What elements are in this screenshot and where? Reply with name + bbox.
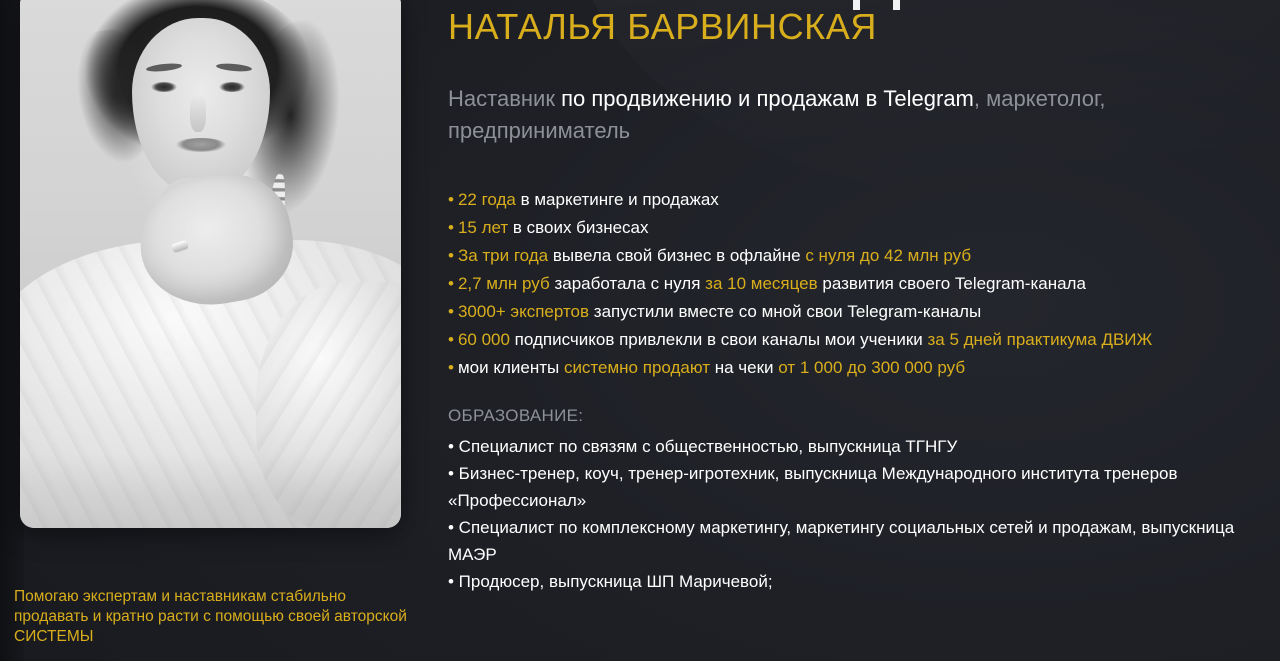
- bullet-highlight: 2,7 млн руб: [458, 274, 550, 293]
- subtitle: Наставник по продвижению и продажам в Te…: [448, 83, 1254, 147]
- list-item: •22 года в маркетинге и продажах: [448, 186, 1248, 214]
- bullet-highlight-2: за 5 дней практикума ДВИЖ: [927, 330, 1152, 349]
- bullet-highlight: За три года: [458, 246, 548, 265]
- education-item: • Бизнес-тренер, коуч, тренер-игротехник…: [448, 460, 1248, 514]
- bullet-highlight-2: с нуля до 42 млн руб: [805, 246, 971, 265]
- tagline: Помогаю экспертам и наставникам стабильн…: [14, 587, 414, 647]
- bullet-dot-icon: •: [448, 274, 454, 293]
- subtitle-part-1: Наставник: [448, 86, 561, 111]
- bullet-text: заработала с нуля: [550, 274, 705, 293]
- bullet-dot-icon: •: [448, 190, 454, 209]
- portrait-photo-image: [20, 0, 401, 528]
- achievements-list: •22 года в маркетинге и продажах •15 лет…: [448, 186, 1248, 382]
- list-item: •3000+ экспертов запустили вместе со мно…: [448, 298, 1248, 326]
- bullet-highlight-2: за 10 месяцев: [705, 274, 817, 293]
- list-item: •За три года вывела свой бизнес в офлайн…: [448, 242, 1248, 270]
- bullet-highlight: 15 лет: [458, 218, 508, 237]
- bullet-dot-icon: •: [448, 358, 454, 377]
- list-item: •60 000 подписчиков привлекли в свои кан…: [448, 326, 1248, 354]
- bullet-highlight: 22 года: [458, 190, 516, 209]
- bullet-text-2: развития своего Telegram-канала: [818, 274, 1086, 293]
- content-column: НАТАЛЬЯ БАРВИНСКАЯ Наставник по продвиже…: [448, 0, 1258, 661]
- photo-fade-overlay: [20, 0, 401, 528]
- bullet-text: в маркетинге и продажах: [516, 190, 719, 209]
- bullet-dot-icon: •: [448, 330, 454, 349]
- education-item: • Продюсер, выпускница ШП Маричевой;: [448, 568, 1248, 595]
- bullet-highlight: 3000+ экспертов: [458, 302, 589, 321]
- bullet-highlight: системно продают: [564, 358, 710, 377]
- page-title: НАТАЛЬЯ БАРВИНСКАЯ: [448, 6, 877, 48]
- list-item: •15 лет в своих бизнесах: [448, 214, 1248, 242]
- bullet-highlight-2: от 1 000 до 300 000 руб: [778, 358, 965, 377]
- presentation-slide: НАТАЛЬЯ БАРВИНСКАЯ Наставник по продвиже…: [0, 0, 1280, 661]
- education-item: • Специалист по комплексному маркетингу,…: [448, 514, 1248, 568]
- list-item: •мои клиенты системно продают на чеки от…: [448, 354, 1248, 382]
- education-section: ОБРАЗОВАНИЕ: • Специалист по связям с об…: [448, 403, 1248, 595]
- bullet-text: в своих бизнесах: [508, 218, 648, 237]
- education-heading: ОБРАЗОВАНИЕ:: [448, 403, 1248, 429]
- bullet-dot-icon: •: [448, 218, 454, 237]
- bullet-dot-icon: •: [448, 246, 454, 265]
- list-item: •2,7 млн руб заработала с нуля за 10 мес…: [448, 270, 1248, 298]
- bullet-text-2: на чеки: [710, 358, 778, 377]
- bullet-text: запустили вместе со мной свои Telegram-к…: [589, 302, 981, 321]
- bullet-highlight: 60 000: [458, 330, 510, 349]
- bullet-text: мои клиенты: [458, 358, 564, 377]
- education-item: • Специалист по связям с общественностью…: [448, 433, 1248, 460]
- bullet-text: подписчиков привлекли в свои каналы мои …: [510, 330, 928, 349]
- bullet-dot-icon: •: [448, 302, 454, 321]
- bullet-text: вывела свой бизнес в офлайне: [548, 246, 805, 265]
- subtitle-part-2: по продвижению и продажам в Telegram: [561, 86, 974, 111]
- portrait-photo: [20, 0, 401, 528]
